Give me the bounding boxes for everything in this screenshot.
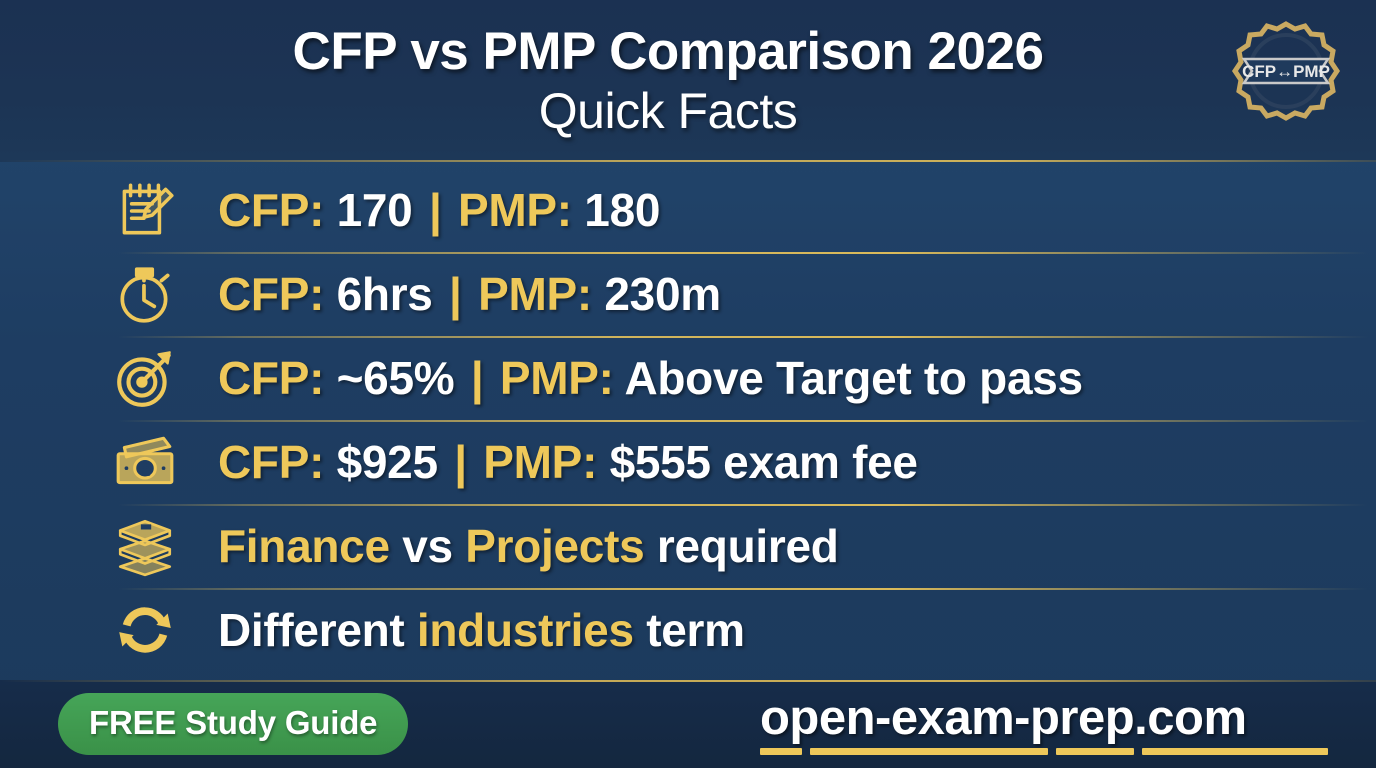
fact-segment: PMP:	[500, 352, 625, 404]
fact-text: CFP: 170 | PMP: 180	[218, 183, 660, 237]
fact-text: CFP: ~65% | PMP: Above Target to pass	[218, 351, 1083, 405]
refresh-cycle-icon	[112, 597, 178, 663]
underline-segment	[1056, 748, 1134, 755]
poster-header: CFP vs PMP Comparison 2026 Quick Facts C…	[0, 0, 1376, 162]
fact-segment: |	[433, 268, 479, 320]
fact-segment: ~65%	[337, 352, 455, 404]
fact-segment: Finance	[218, 520, 390, 572]
fact-row: Different industries term	[0, 588, 1376, 672]
fact-row: Finance vs Projects required	[0, 504, 1376, 588]
fact-segment: CFP:	[218, 184, 337, 236]
fact-segment: CFP:	[218, 268, 337, 320]
fact-row: CFP: 170 | PMP: 180	[0, 168, 1376, 252]
fact-segment: $555 exam fee	[610, 436, 918, 488]
fact-segment: $925	[337, 436, 438, 488]
target-arrow-icon	[112, 345, 178, 411]
facts-list: CFP: 170 | PMP: 180 CFP: 6hrs | PMP: 230…	[0, 162, 1376, 680]
fact-segment: PMP:	[483, 436, 609, 488]
books-stack-icon	[112, 513, 178, 579]
free-study-guide-badge[interactable]: FREE Study Guide	[58, 693, 408, 755]
title-block: CFP vs PMP Comparison 2026 Quick Facts	[293, 25, 1084, 136]
underline-segment	[810, 748, 1048, 755]
fact-segment: PMP:	[458, 184, 584, 236]
fact-segment: 6hrs	[337, 268, 433, 320]
page-title: CFP vs PMP Comparison 2026	[293, 25, 1044, 79]
cash-money-icon	[112, 429, 178, 495]
infographic-poster: CFP vs PMP Comparison 2026 Quick Facts C…	[0, 0, 1376, 768]
fact-segment: 230m	[604, 268, 720, 320]
fact-segment: term	[634, 604, 745, 656]
fact-segment: required	[644, 520, 838, 572]
poster-footer: FREE Study Guide open-exam-prep.com	[0, 680, 1376, 768]
underline-segment	[760, 748, 802, 755]
fact-segment: Above Target to pass	[624, 352, 1082, 404]
fact-segment: CFP:	[218, 436, 337, 488]
notepad-pencil-icon	[112, 177, 178, 243]
fact-row: CFP: $925 | PMP: $555 exam fee	[0, 420, 1376, 504]
underline-segment	[1142, 748, 1328, 755]
fact-text: CFP: 6hrs | PMP: 230m	[218, 267, 721, 321]
fact-segment: CFP:	[218, 352, 337, 404]
site-url-underline	[760, 748, 1328, 755]
fact-segment: |	[438, 436, 484, 488]
fact-segment: 180	[584, 184, 660, 236]
fact-segment: |	[412, 184, 458, 236]
fact-segment: 170	[337, 184, 413, 236]
fact-segment: industries	[417, 604, 634, 656]
logo-text: CFP↔PMP	[1242, 62, 1330, 81]
fact-segment: PMP:	[478, 268, 604, 320]
page-subtitle: Quick Facts	[293, 86, 1044, 137]
fact-text: CFP: $925 | PMP: $555 exam fee	[218, 435, 918, 489]
seal-badge-icon: CFP↔PMP	[1222, 18, 1350, 130]
stopwatch-icon	[112, 261, 178, 327]
fact-segment: Different	[218, 604, 417, 656]
fact-row: CFP: 6hrs | PMP: 230m	[0, 252, 1376, 336]
site-url[interactable]: open-exam-prep.com	[760, 690, 1328, 746]
site-url-block[interactable]: open-exam-prep.com	[760, 690, 1328, 759]
fact-segment: Projects	[465, 520, 644, 572]
fact-segment: |	[454, 352, 500, 404]
fact-text: Finance vs Projects required	[218, 519, 839, 573]
fact-text: Different industries term	[218, 603, 745, 657]
fact-row: CFP: ~65% | PMP: Above Target to pass	[0, 336, 1376, 420]
fact-segment: vs	[390, 520, 466, 572]
